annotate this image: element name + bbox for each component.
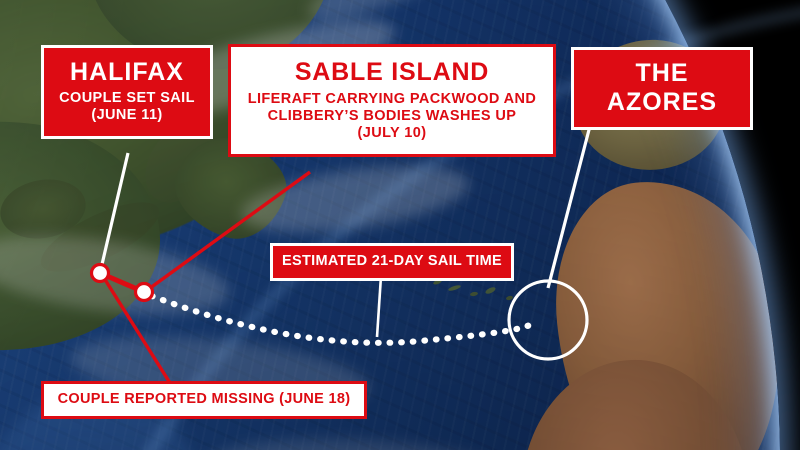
callout-azores-title: THE AZORES <box>580 59 744 117</box>
callout-halifax-line1: COUPLE SET SAIL <box>52 90 202 107</box>
callout-estimated-sail-time[interactable]: ESTIMATED 21-DAY SAIL TIME <box>270 243 514 281</box>
halifax-leader-line <box>100 153 128 273</box>
callout-sable-title: SABLE ISLAND <box>241 58 543 87</box>
callout-sable-line2: CLIBBERY’S BODIES WASHES UP <box>241 108 543 125</box>
halifax-marker[interactable] <box>92 265 109 282</box>
callout-sable-island[interactable]: SABLE ISLAND LIFERAFT CARRYING PACKWOOD … <box>228 44 556 157</box>
callout-halifax[interactable]: HALIFAX COUPLE SET SAIL (JUNE 11) <box>41 45 213 139</box>
map-graphic: HALIFAX COUPLE SET SAIL (JUNE 11) SABLE … <box>0 0 800 450</box>
estimate-leader-line <box>377 276 381 337</box>
callout-sable-line1: LIFERAFT CARRYING PACKWOOD AND <box>241 91 543 108</box>
azores-highlight-circle <box>509 281 587 359</box>
callout-couple-reported-missing[interactable]: COUPLE REPORTED MISSING (JUNE 18) <box>41 381 367 419</box>
callout-azores[interactable]: THE AZORES <box>571 47 753 130</box>
callout-estimate-title: ESTIMATED 21-DAY SAIL TIME <box>279 253 505 270</box>
callout-sable-line3: (JULY 10) <box>241 125 543 142</box>
dotted-sail-route <box>152 296 531 343</box>
callout-halifax-title: HALIFAX <box>52 58 202 87</box>
callout-missing-title: COUPLE REPORTED MISSING (JUNE 18) <box>50 391 358 408</box>
sable-marker[interactable] <box>136 284 153 301</box>
callout-halifax-line2: (JUNE 11) <box>52 107 202 124</box>
